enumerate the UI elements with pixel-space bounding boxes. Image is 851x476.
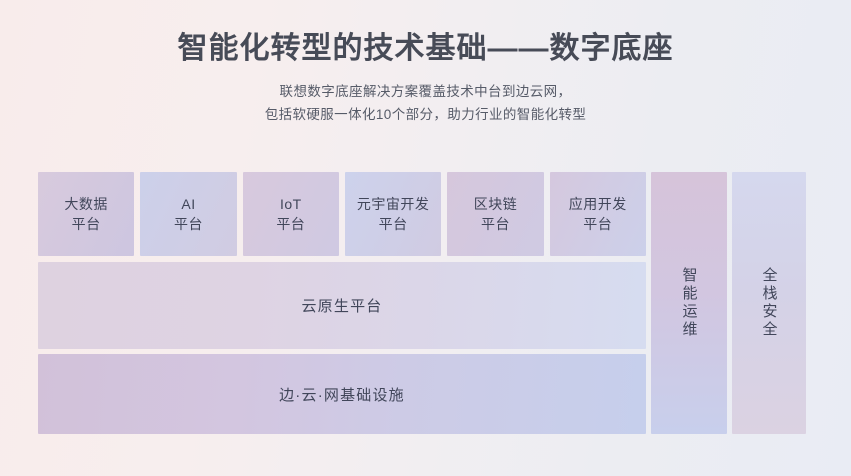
subtitle-line-1: 联想数字底座解决方案覆盖技术中台到边云网，: [0, 80, 851, 104]
platform-card-appdev-line1: 应用开发: [569, 194, 627, 214]
cloud-native-platform-label: 云原生平台: [301, 295, 382, 316]
platform-card-iot[interactable]: IoT 平台: [243, 172, 339, 256]
side-column-full-stack-security[interactable]: 全栈安全: [732, 172, 806, 434]
platform-card-metaverse-line1: 元宇宙开发: [357, 194, 430, 214]
page-subtitle: 联想数字底座解决方案覆盖技术中台到边云网， 包括软硬服一体化10个部分，助力行业…: [0, 80, 851, 127]
platform-card-appdev[interactable]: 应用开发 平台: [550, 172, 646, 256]
platform-card-ai-line1: AI: [181, 194, 195, 214]
page-title: 智能化转型的技术基础——数字底座: [0, 30, 851, 68]
subtitle-line-2: 包括软硬服一体化10个部分，助力行业的智能化转型: [0, 103, 851, 127]
platform-card-appdev-line2: 平台: [583, 214, 612, 234]
cloud-native-platform-band[interactable]: 云原生平台: [38, 262, 646, 349]
platform-card-blockchain-line2: 平台: [481, 214, 510, 234]
page-header: 智能化转型的技术基础——数字底座 联想数字底座解决方案覆盖技术中台到边云网， 包…: [0, 0, 851, 127]
platform-card-metaverse[interactable]: 元宇宙开发 平台: [345, 172, 441, 256]
side-column-intelligent-ops-label: 智能运维: [679, 267, 700, 339]
platform-card-bigdata-line2: 平台: [72, 214, 101, 234]
platform-card-ai-line2: 平台: [174, 214, 203, 234]
platform-card-bigdata-line1: 大数据: [64, 194, 108, 214]
platform-card-blockchain[interactable]: 区块链 平台: [447, 172, 543, 256]
side-column-full-stack-security-label: 全栈安全: [759, 267, 780, 339]
architecture-stack-diagram: 大数据 平台 AI 平台 IoT 平台 元宇宙开发 平台 区块链 平台 应用开发: [38, 172, 808, 434]
platform-tier: 大数据 平台 AI 平台 IoT 平台 元宇宙开发 平台 区块链 平台 应用开发: [38, 172, 646, 256]
infrastructure-band[interactable]: 边·云·网基础设施: [38, 354, 646, 434]
platform-card-ai[interactable]: AI 平台: [140, 172, 236, 256]
platform-card-bigdata[interactable]: 大数据 平台: [38, 172, 134, 256]
infrastructure-label: 边·云·网基础设施: [279, 384, 405, 405]
platform-card-iot-line1: IoT: [280, 194, 302, 214]
platform-card-metaverse-line2: 平台: [379, 214, 408, 234]
stack-main-column: 大数据 平台 AI 平台 IoT 平台 元宇宙开发 平台 区块链 平台 应用开发: [38, 172, 646, 434]
side-column-intelligent-ops[interactable]: 智能运维: [651, 172, 727, 434]
platform-card-iot-line2: 平台: [276, 214, 305, 234]
platform-card-blockchain-line1: 区块链: [474, 194, 518, 214]
